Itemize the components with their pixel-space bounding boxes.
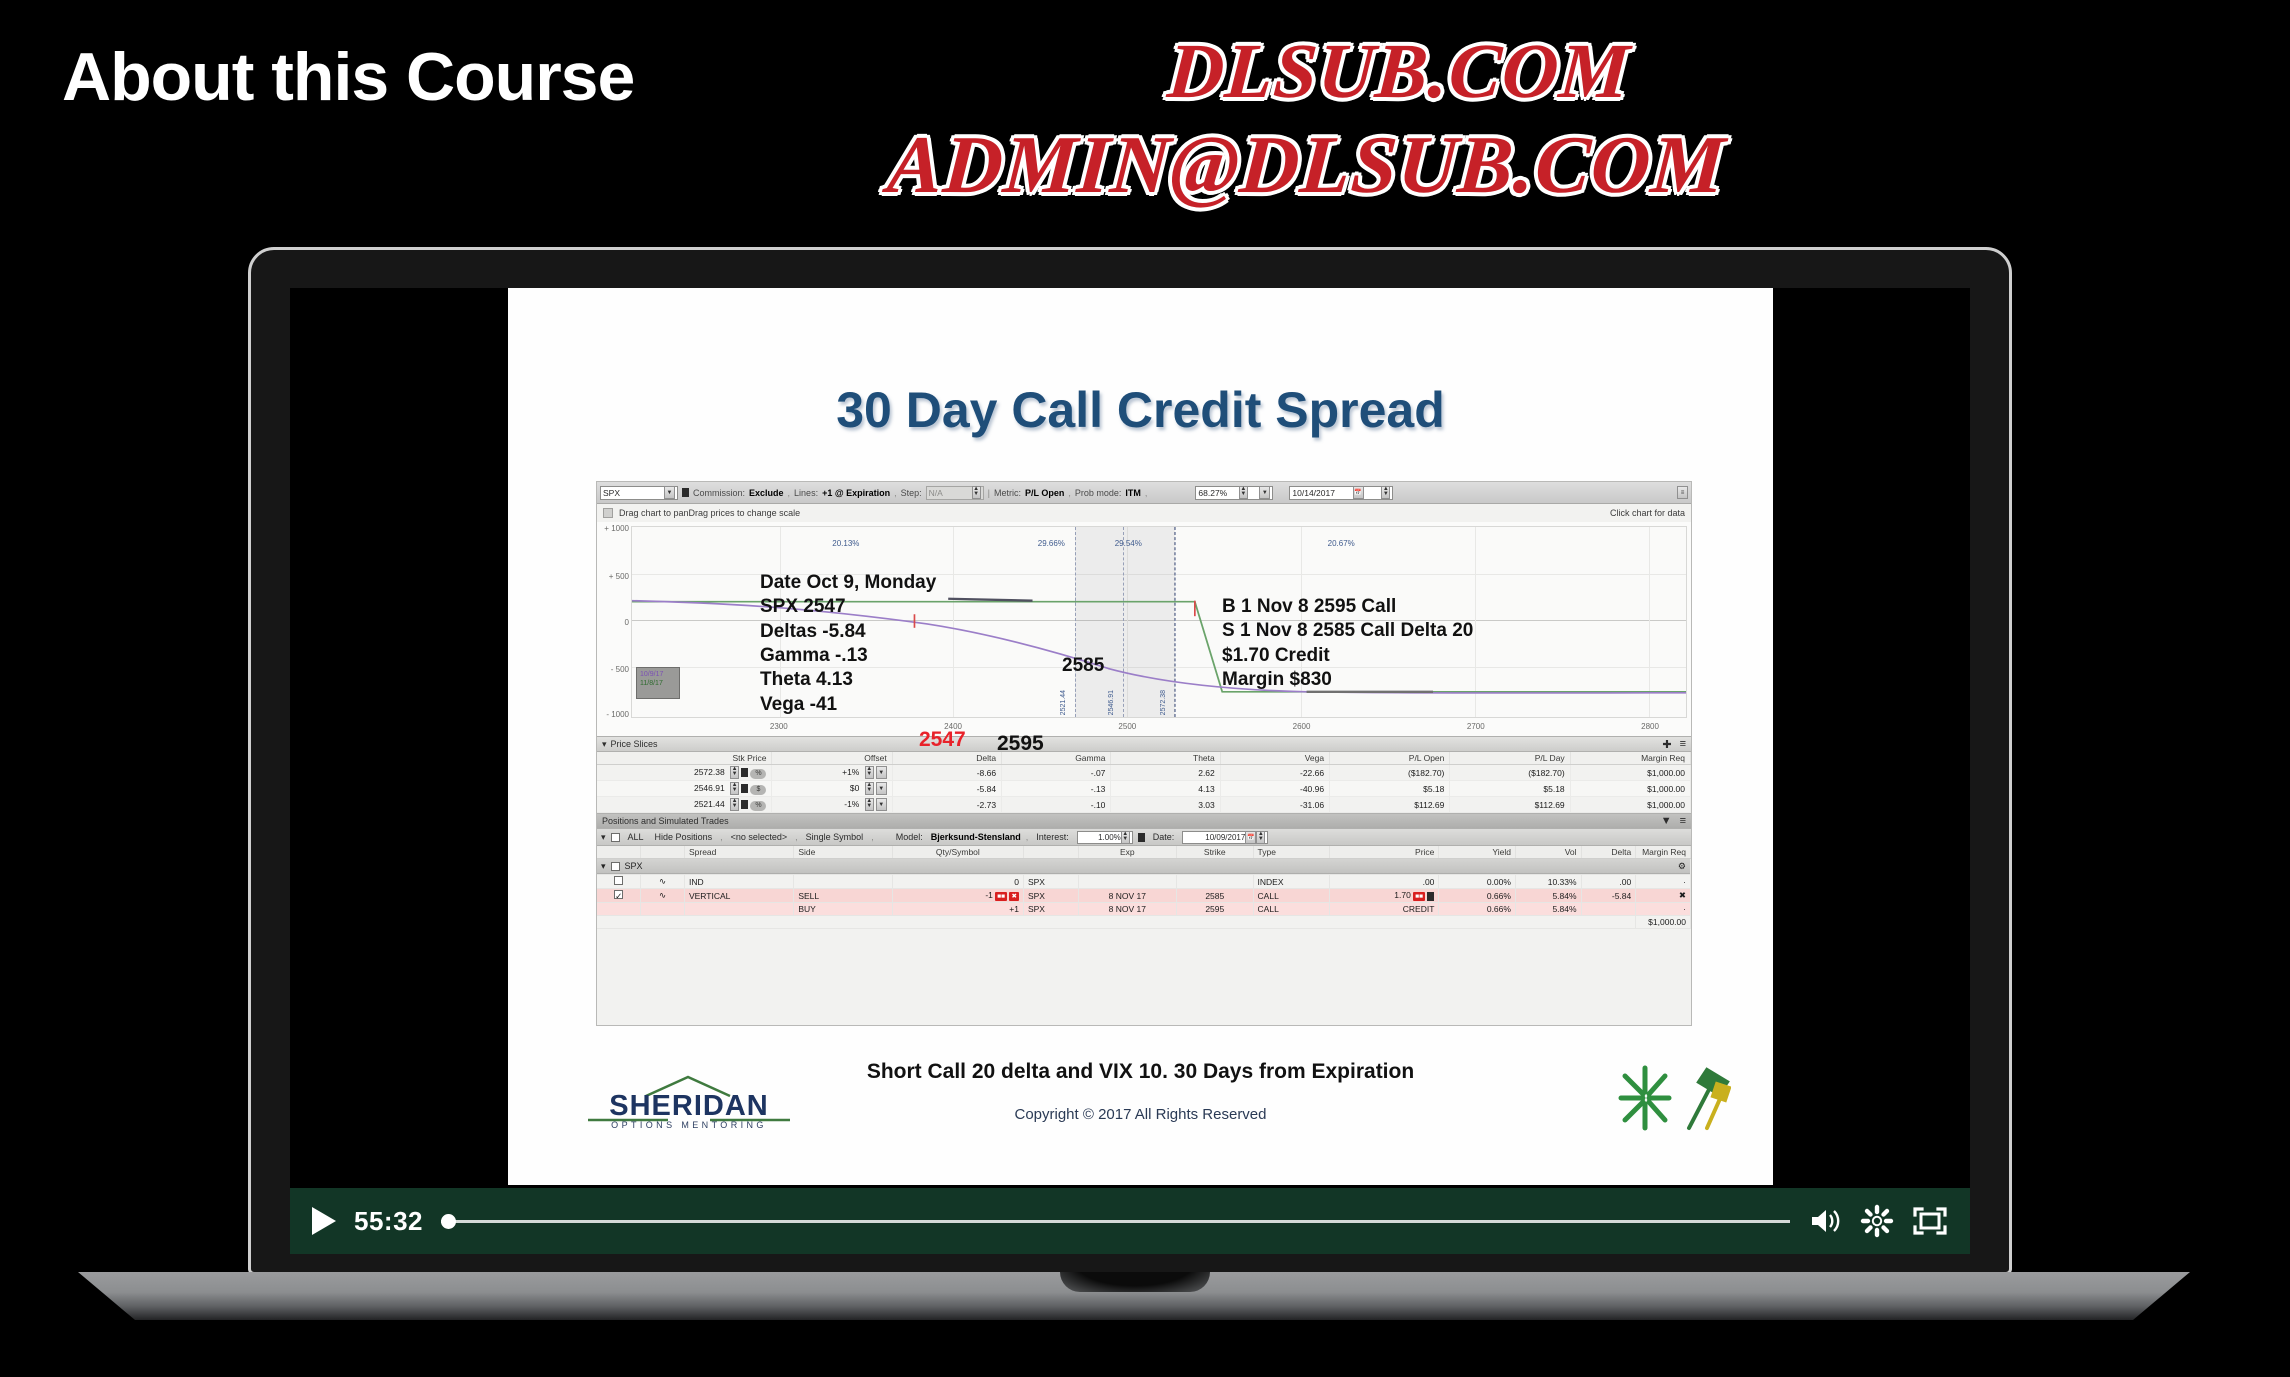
cell-vol: 10.33% xyxy=(1515,875,1581,889)
col-theta: Theta xyxy=(1111,752,1220,765)
chevron-down-icon[interactable]: ▼ xyxy=(664,486,675,499)
price-value: 1.70 xyxy=(1394,890,1411,900)
stk-price-value: 2546.91 xyxy=(694,783,725,793)
y-tick: + 1000 xyxy=(604,524,629,533)
stk-price-value: 2572.38 xyxy=(694,767,725,777)
cell-stk-price[interactable]: 2572.38 ▲▼ % xyxy=(597,765,772,781)
chart-plot-area[interactable]: 2521.44 2546.91 2572.38 20.13% 29.66% 29… xyxy=(631,526,1687,718)
payoff-chart[interactable]: + 1000 + 500 0 - 500 - 1000 xyxy=(597,522,1691,736)
row-checkbox-cell[interactable] xyxy=(597,875,641,889)
annotation-line: S 1 Nov 8 2585 Call Delta 20 xyxy=(1222,619,1473,643)
row-chart-icon[interactable]: ∿ xyxy=(641,875,685,889)
cell-strike[interactable]: 2585 xyxy=(1177,889,1254,903)
cell-margin-req: $1,000.00 xyxy=(1570,765,1690,781)
marker-label-2547: 2547 xyxy=(919,728,966,752)
row-checkbox-cell xyxy=(597,903,641,916)
probability-value: 68.27% xyxy=(1198,488,1227,498)
group-symbol: SPX xyxy=(625,861,643,871)
cell-price: CREDIT xyxy=(1330,903,1439,916)
prob-mode-value[interactable]: ITM xyxy=(1125,488,1141,498)
progress-track[interactable] xyxy=(441,1220,1790,1223)
cell-qty: -1 ■■ ✖ xyxy=(892,889,1023,903)
watermark-site: DLSUB.COM xyxy=(1165,26,1633,116)
cell-delta: .00 xyxy=(1581,875,1636,889)
chart-legend: 10/9/17 11/8/17 xyxy=(636,667,680,699)
table-header-row: Spread Side Qty/Symbol Exp Strike Type P… xyxy=(597,846,1691,859)
annotation-line: SPX 2547 xyxy=(760,595,936,619)
stepper-icon[interactable]: ▲▼▼ xyxy=(865,766,887,779)
separator: , xyxy=(894,488,897,498)
current-time: 55:32 xyxy=(354,1206,423,1237)
order-action-icon[interactable]: ■■ xyxy=(995,892,1007,901)
separator: , xyxy=(1145,488,1148,498)
unit-toggle[interactable]: % xyxy=(750,801,766,811)
chart-hint-left: Drag chart to panDrag prices to change s… xyxy=(619,508,800,518)
lock-icon[interactable] xyxy=(1427,892,1434,901)
cell-offset[interactable]: -1% ▲▼▼ xyxy=(772,797,892,813)
price-slices-title: Price Slices xyxy=(611,739,658,749)
separator: , xyxy=(871,832,874,842)
stepper-icon[interactable]: ▲▼ xyxy=(730,782,748,795)
col-price: Price xyxy=(1330,846,1439,859)
menu-icon[interactable]: ≡ xyxy=(1677,486,1688,499)
table-row[interactable]: 2521.44 ▲▼ % -1% ▲▼▼ -2.73 -.10 3.03 -31… xyxy=(597,797,1691,813)
col-chart-icon xyxy=(641,846,685,859)
col-pl-day: P/L Day xyxy=(1450,752,1570,765)
volume-icon[interactable] xyxy=(1808,1206,1842,1236)
commission-value[interactable]: Exclude xyxy=(749,488,784,498)
video-control-bar: 55:32 xyxy=(290,1188,1970,1254)
lines-value[interactable]: +1 @ Expiration xyxy=(822,488,890,498)
cell-delta: -2.73 xyxy=(892,797,1001,813)
offset-value: $0 xyxy=(850,783,859,793)
col-side: Side xyxy=(794,846,892,859)
chart-x-axis: 2300 2400 2500 2600 2700 2800 xyxy=(631,720,1687,736)
menu-icon[interactable]: ≡ xyxy=(1680,815,1686,827)
cell-vol: 5.84% xyxy=(1515,889,1581,903)
cell-vega: -22.66 xyxy=(1220,765,1329,781)
positions-table: Spread Side Qty/Symbol Exp Strike Type P… xyxy=(597,846,1691,929)
step-value: N/A xyxy=(929,488,943,498)
col-delta: Delta xyxy=(1581,846,1636,859)
price-slices-table: Stk Price Offset Delta Gamma Theta Vega … xyxy=(597,752,1691,813)
separator: , xyxy=(788,488,791,498)
annotation-line: Date Oct 9, Monday xyxy=(760,571,936,595)
row-chart-icon[interactable]: ∿ xyxy=(641,889,685,903)
burst-tools-icon xyxy=(1611,1058,1731,1138)
page-title: About this Course xyxy=(62,38,634,116)
probability-input[interactable]: 68.27% ▲▼ ▼ xyxy=(1195,486,1273,500)
chevron-down-icon[interactable]: ▼ xyxy=(1661,815,1672,827)
x-tick: 2800 xyxy=(1641,722,1659,731)
cell-theta: 3.03 xyxy=(1111,797,1220,813)
cell-spread xyxy=(684,903,793,916)
cell-qty: +1 xyxy=(892,903,1023,916)
fullscreen-icon[interactable] xyxy=(1912,1206,1948,1236)
lines-label: Lines: xyxy=(794,488,818,498)
stepper-icon[interactable]: ▲▼ xyxy=(1381,486,1390,499)
row-checkbox-cell[interactable]: ✓ xyxy=(597,889,641,903)
positions-title: Positions and Simulated Trades xyxy=(602,816,729,826)
select-all-checkbox[interactable] xyxy=(611,833,620,842)
stepper-icon[interactable]: ▲▼ xyxy=(730,766,748,779)
stepper-icon[interactable]: ▲▼▼ xyxy=(865,798,887,811)
marker-label-2585: 2585 xyxy=(1062,655,1104,677)
chart-hint-right: Click chart for data xyxy=(1610,508,1685,518)
cell-exp: 8 NOV 17 xyxy=(1078,889,1176,903)
chevron-down-icon[interactable]: ▼ xyxy=(1259,486,1270,499)
cell-stk-price[interactable]: 2546.91 ▲▼ $ xyxy=(597,781,772,797)
cell-qty: 0 xyxy=(892,875,1023,889)
cell-price: .00 xyxy=(1330,875,1439,889)
annotation-line: Gamma -.13 xyxy=(760,644,936,668)
col-vega: Vega xyxy=(1220,752,1329,765)
cell-yield: 0.00% xyxy=(1439,875,1516,889)
col-delta: Delta xyxy=(892,752,1001,765)
col-select xyxy=(597,846,641,859)
stepper-icon[interactable]: ▲▼▼ xyxy=(865,782,887,795)
slide-canvas: 30 Day Call Credit Spread SPX ▼ Commissi… xyxy=(508,288,1773,1185)
interest-label: Interest: xyxy=(1033,832,1072,842)
separator: , xyxy=(1068,488,1071,498)
col-stk-price: Stk Price xyxy=(597,752,772,765)
lock-icon xyxy=(682,488,689,497)
date-label: Date: xyxy=(1150,832,1178,842)
y-tick: 0 xyxy=(625,618,629,627)
row-checkbox[interactable] xyxy=(614,876,623,885)
interest-value: 1.00% xyxy=(1098,833,1121,842)
legend-entry: 11/8/17 xyxy=(640,679,676,688)
table-row[interactable]: ∿ IND 0 SPX INDEX .00 0.00% 10.33% .00 · xyxy=(597,875,1691,889)
annotation-line: $1.70 Credit xyxy=(1222,644,1473,668)
cell-yield: 0.66% xyxy=(1439,889,1516,903)
cell-strike[interactable]: 2595 xyxy=(1177,903,1254,916)
laptop-notch xyxy=(1060,1272,1210,1292)
cell-side: SELL xyxy=(794,889,892,903)
col-strike: Strike xyxy=(1177,846,1254,859)
chart-annotation-right: B 1 Nov 8 2595 Call S 1 Nov 8 2585 Call … xyxy=(1222,595,1473,692)
cell-margin-req: $1,000.00 xyxy=(1570,797,1690,813)
col-vol: Vol xyxy=(1515,846,1581,859)
separator: , xyxy=(1026,832,1029,842)
cell-gamma: -.13 xyxy=(1002,781,1111,797)
calendar-icon[interactable]: 📅 xyxy=(1245,831,1256,844)
marker-label-2595: 2595 xyxy=(997,732,1044,756)
selected-filter[interactable]: <no selected> xyxy=(728,832,791,842)
cell-margin: · xyxy=(1636,875,1691,889)
stepper-icon[interactable]: ▲▼ xyxy=(972,486,981,499)
table-row[interactable]: 2572.38 ▲▼ % +1% ▲▼▼ -8.66 -.07 2.62 -22… xyxy=(597,765,1691,781)
y-tick: - 1000 xyxy=(606,710,629,719)
platform-toolbar: SPX ▼ Commission: Exclude , Lines: +1 @ … xyxy=(597,482,1691,504)
cell-type: INDEX xyxy=(1253,875,1330,889)
cell-gamma: -.10 xyxy=(1002,797,1111,813)
gear-icon[interactable]: ⚙ xyxy=(1678,861,1686,872)
sheridan-logo: SHERIDAN OPTIONS MENTORING xyxy=(584,1074,794,1132)
date-value: 10/14/2017 xyxy=(1292,488,1335,498)
cell-delta: -8.66 xyxy=(892,765,1001,781)
stk-price-value: 2521.44 xyxy=(694,799,725,809)
stepper-icon[interactable]: ▲▼ xyxy=(730,798,748,811)
lock-icon[interactable] xyxy=(1138,833,1145,842)
cell-pl-open: $5.18 xyxy=(1330,781,1450,797)
col-offset: Offset xyxy=(772,752,892,765)
chart-annotation-left: Date Oct 9, Monday SPX 2547 Deltas -5.84… xyxy=(760,571,936,717)
cursor-segment xyxy=(948,599,1032,601)
cell-vega: -31.06 xyxy=(1220,797,1329,813)
step-input[interactable]: N/A ▲▼ xyxy=(926,486,984,500)
interest-input[interactable]: 1.00% ▲▼ xyxy=(1077,831,1133,844)
positions-filter-bar: ▾ ALL Hide Positions , <no selected> , S… xyxy=(597,829,1691,846)
col-qty-symbol: Qty/Symbol xyxy=(892,846,1023,859)
cell-pl-day: $112.69 xyxy=(1450,797,1570,813)
menu-icon[interactable]: ≡ xyxy=(1680,738,1686,750)
options-platform-window: SPX ▼ Commission: Exclude , Lines: +1 @ … xyxy=(596,481,1692,1026)
chevron-down-icon[interactable]: ▾ xyxy=(601,861,606,872)
model-value[interactable]: Bjerksund-Stensland xyxy=(931,832,1021,842)
cell-pl-day: ($182.70) xyxy=(1450,765,1570,781)
gear-icon[interactable] xyxy=(1860,1204,1894,1238)
cell-theta: 2.62 xyxy=(1111,765,1220,781)
progress-handle[interactable] xyxy=(441,1214,456,1229)
progress-scrubber[interactable] xyxy=(441,1212,1790,1230)
qty-value: -1 xyxy=(985,890,993,900)
cell-vega: -40.96 xyxy=(1220,781,1329,797)
cell-symbol: SPX xyxy=(1023,875,1078,889)
symbol-group-bar[interactable]: ▾ SPX ⚙ xyxy=(597,859,1690,874)
cell-symbol: SPX xyxy=(1023,889,1078,903)
totals-row: $1,000.00 xyxy=(597,916,1691,929)
cell-price: 1.70 ■■ xyxy=(1330,889,1439,903)
legend-entry: 10/9/17 xyxy=(640,670,676,679)
symbol-mode-button[interactable]: Single Symbol xyxy=(803,832,867,842)
col-pl-open: P/L Open xyxy=(1330,752,1450,765)
cell-vol: 5.84% xyxy=(1515,903,1581,916)
order-action-icon[interactable]: ■■ xyxy=(1413,892,1425,901)
positions-header[interactable]: Positions and Simulated Trades ▼ ≡ xyxy=(597,813,1691,829)
x-tick: 2300 xyxy=(770,722,788,731)
symbol-group-row[interactable]: ▾ SPX ⚙ xyxy=(597,859,1691,875)
col-exp: Exp xyxy=(1078,846,1176,859)
offset-value: +1% xyxy=(842,767,859,777)
col-symbol xyxy=(1023,846,1078,859)
cell-margin-req: $1,000.00 xyxy=(1570,781,1690,797)
date-input[interactable]: 10/14/2017 📅 ▲▼ xyxy=(1289,486,1393,500)
screenshot-root: About this Course DLSUB.COM ADMIN@DLSUB.… xyxy=(0,0,2290,1377)
offset-value: -1% xyxy=(844,799,859,809)
stepper-icon[interactable]: ▲▼ xyxy=(1239,486,1248,499)
table-row[interactable]: ✓ ∿ VERTICAL SELL -1 ■■ ✖ SPX 8 NOV 17 2… xyxy=(597,889,1691,903)
annotation-line: Vega -41 xyxy=(760,693,936,717)
col-margin-req: Margin Req xyxy=(1636,846,1691,859)
symbol-value: SPX xyxy=(603,488,620,498)
annotation-line: Margin $830 xyxy=(1222,668,1473,692)
filter-all-label[interactable]: ALL xyxy=(625,832,647,842)
cell-gamma: -.07 xyxy=(1002,765,1111,781)
delete-order-icon[interactable]: ✖ xyxy=(1009,892,1018,901)
play-button[interactable] xyxy=(312,1207,336,1235)
unit-toggle[interactable]: $ xyxy=(750,785,766,795)
total-margin-req: $1,000.00 xyxy=(1636,916,1691,929)
symbol-input[interactable]: SPX ▼ xyxy=(600,486,678,500)
calendar-icon[interactable]: 📅 xyxy=(1353,486,1364,499)
annotation-line: Deltas -5.84 xyxy=(760,620,936,644)
cell-margin: · xyxy=(1636,903,1691,916)
y-tick: - 500 xyxy=(611,665,629,674)
col-spread: Spread xyxy=(684,846,793,859)
chevron-down-icon[interactable]: ▾ xyxy=(601,832,606,843)
table-header-row: Stk Price Offset Delta Gamma Theta Vega … xyxy=(597,752,1691,765)
table-row[interactable]: 2546.91 ▲▼ $ $0 ▲▼▼ -5.84 -.13 4.13 -40.… xyxy=(597,781,1691,797)
table-row[interactable]: BUY +1 SPX 8 NOV 17 2595 CALL CREDIT 0.6… xyxy=(597,903,1691,916)
cell-offset[interactable]: $0 ▲▼▼ xyxy=(772,781,892,797)
col-yield: Yield xyxy=(1439,846,1516,859)
panel-toggle-icon[interactable] xyxy=(603,508,613,518)
cell-side xyxy=(794,875,892,889)
prob-mode-label: Prob mode: xyxy=(1075,488,1122,498)
price-slices-header[interactable]: ▾ Price Slices ✚ ≡ xyxy=(597,736,1691,752)
commission-label: Commission: xyxy=(693,488,745,498)
cell-pl-open: ($182.70) xyxy=(1330,765,1450,781)
row-chart-icon xyxy=(641,903,685,916)
cell-offset[interactable]: +1% ▲▼▼ xyxy=(772,765,892,781)
cell-margin[interactable]: ✖ xyxy=(1636,889,1691,903)
positions-date-value: 10/09/2017 xyxy=(1205,833,1245,842)
metric-label: Metric: xyxy=(994,488,1021,498)
hide-positions-button[interactable]: Hide Positions xyxy=(652,832,716,842)
step-label: Step: xyxy=(901,488,922,498)
group-checkbox[interactable] xyxy=(611,862,620,871)
cell-spread: VERTICAL xyxy=(684,889,793,903)
chart-hint-bar: Drag chart to panDrag prices to change s… xyxy=(597,504,1691,522)
metric-value[interactable]: P/L Open xyxy=(1025,488,1064,498)
row-checkbox-checked[interactable]: ✓ xyxy=(614,890,623,899)
chevron-down-icon[interactable]: ▾ xyxy=(602,739,607,750)
cell-delta: -5.84 xyxy=(892,781,1001,797)
y-tick: + 500 xyxy=(609,572,629,581)
x-tick: 2600 xyxy=(1293,722,1311,731)
cell-exp: 8 NOV 17 xyxy=(1078,903,1176,916)
x-tick: 2500 xyxy=(1118,722,1136,731)
cell-type: CALL xyxy=(1253,889,1330,903)
add-slice-button[interactable]: ✚ xyxy=(1662,738,1671,751)
annotation-line: Theta 4.13 xyxy=(760,668,936,692)
chart-y-axis: + 1000 + 500 0 - 500 - 1000 xyxy=(597,522,631,736)
cell-delta xyxy=(1581,903,1636,916)
positions-date-input[interactable]: 10/09/2017 📅 ▲▼ xyxy=(1182,831,1268,844)
cell-pl-open: $112.69 xyxy=(1330,797,1450,813)
sheridan-tagline: OPTIONS MENTORING xyxy=(584,1120,794,1130)
separator: | xyxy=(988,488,990,498)
cell-pl-day: $5.18 xyxy=(1450,781,1570,797)
cell-yield: 0.66% xyxy=(1439,903,1516,916)
cell-spread: IND xyxy=(684,875,793,889)
annotation-line: B 1 Nov 8 2595 Call xyxy=(1222,595,1473,619)
separator: , xyxy=(720,832,723,842)
cell-delta: -5.84 xyxy=(1581,889,1636,903)
x-tick: 2700 xyxy=(1467,722,1485,731)
slide-title: 30 Day Call Credit Spread xyxy=(508,381,1773,439)
cell-side: BUY xyxy=(794,903,892,916)
cell-symbol: SPX xyxy=(1023,903,1078,916)
cell-exp xyxy=(1078,875,1176,889)
cell-type: CALL xyxy=(1253,903,1330,916)
separator: , xyxy=(795,832,798,842)
watermark-email: ADMIN@DLSUB.COM xyxy=(885,118,1729,212)
unit-toggle[interactable]: % xyxy=(750,769,766,779)
stepper-icon[interactable]: ▲▼ xyxy=(1121,831,1130,844)
model-label: Model: xyxy=(893,832,926,842)
cell-stk-price[interactable]: 2521.44 ▲▼ % xyxy=(597,797,772,813)
col-type: Type xyxy=(1253,846,1330,859)
stepper-icon[interactable]: ▲▼ xyxy=(1256,831,1265,844)
cell-strike xyxy=(1177,875,1254,889)
col-margin-req: Margin Req xyxy=(1570,752,1690,765)
cell-theta: 4.13 xyxy=(1111,781,1220,797)
